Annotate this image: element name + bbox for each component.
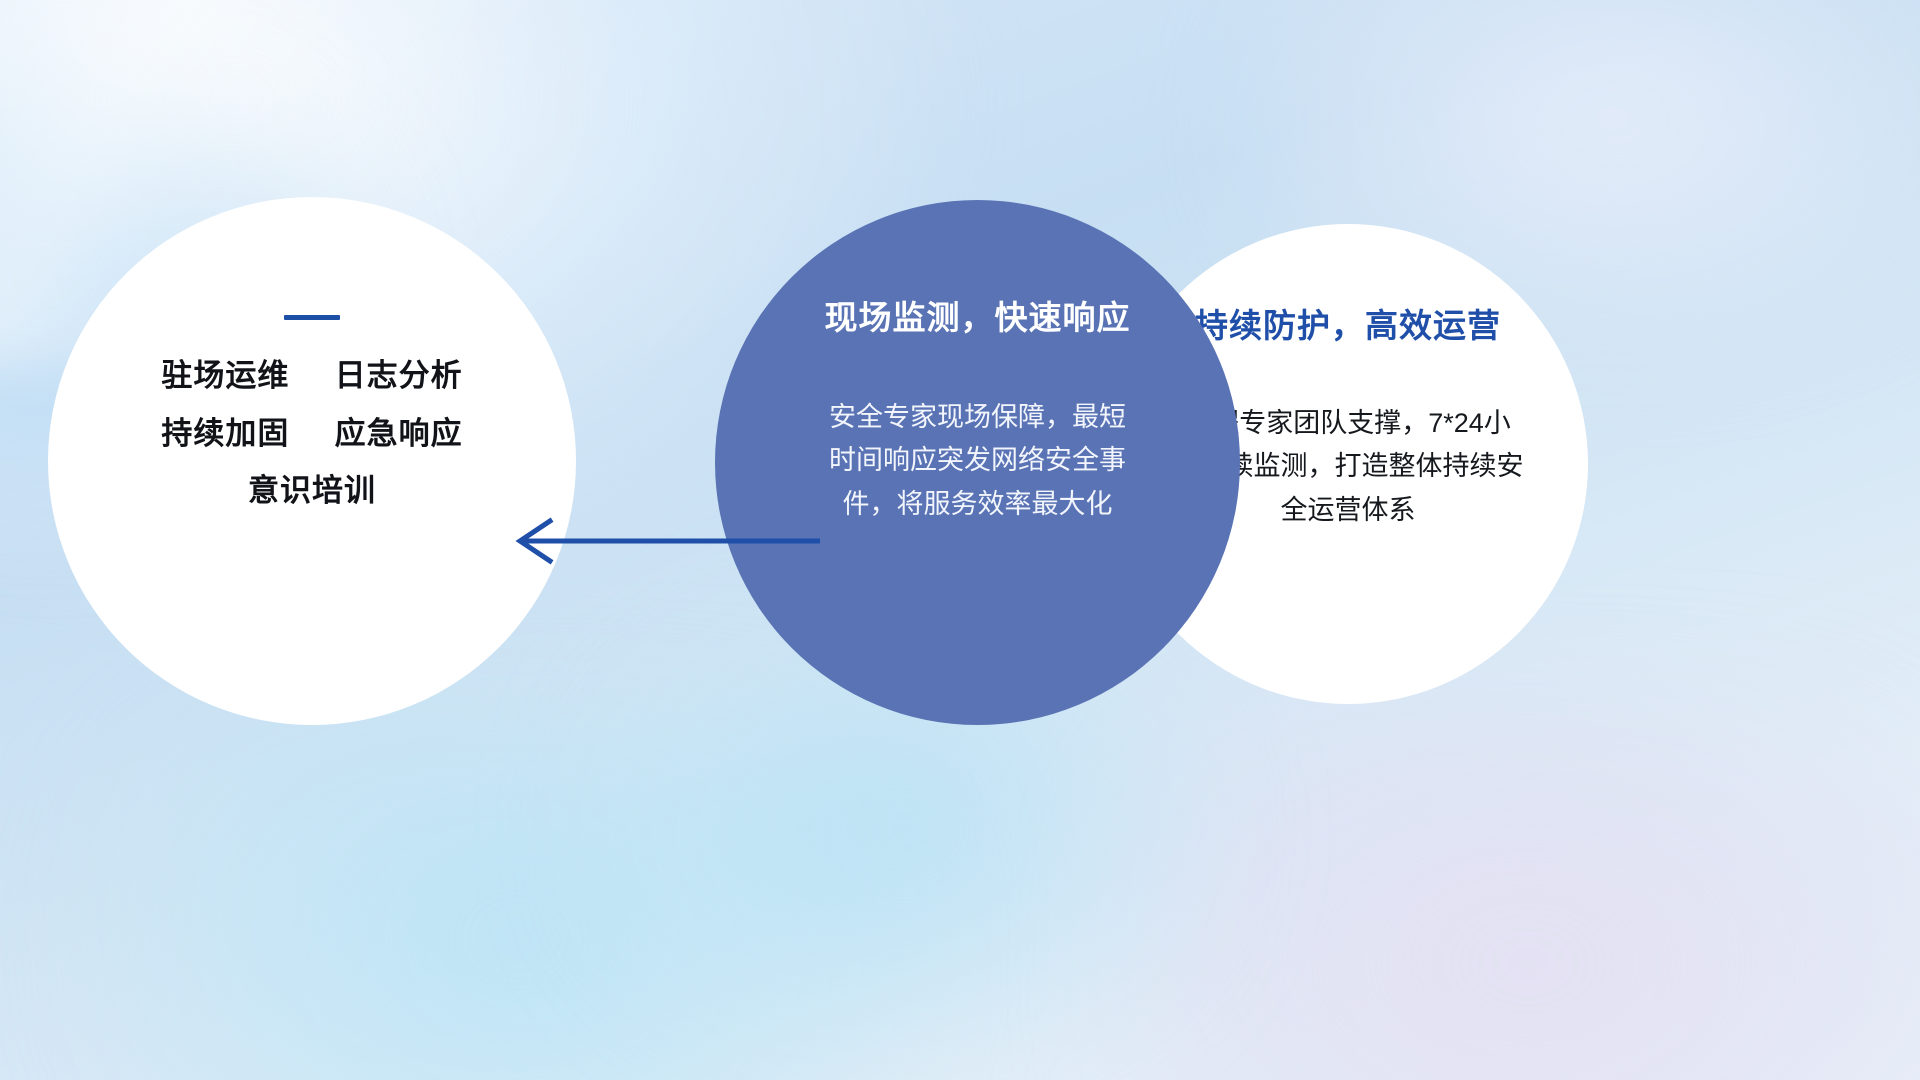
keyword-row-3: 意识培训 [248, 471, 376, 511]
divider-line-icon [284, 315, 340, 320]
left-keyword-circle[interactable]: 驻场运维 日志分析 持续加固 应急响应 意识培训 [48, 197, 576, 725]
keyword-list: 驻场运维 日志分析 持续加固 应急响应 意识培训 [161, 356, 462, 511]
keyword-row-1: 驻场运维 日志分析 [161, 356, 462, 396]
right-circle-title: 持续防护，高效运营 [1195, 306, 1501, 346]
keyword-chixu-jiagu: 持续加固 [161, 416, 289, 451]
keyword-zhuchang-yunwei: 驻场运维 [161, 358, 289, 393]
keyword-rizhi-fenxi: 日志分析 [335, 358, 463, 393]
slide-canvas: 驻场运维 日志分析 持续加固 应急响应 意识培训 持续防护，高效运营 远程专家团… [0, 0, 1920, 1080]
keyword-row-2: 持续加固 应急响应 [161, 414, 462, 454]
middle-circle-body: 安全专家现场保障，最短时间响应突发网络安全事件，将服务效率最大化 [828, 396, 1128, 527]
keyword-yishi-peixun: 意识培训 [248, 473, 376, 508]
keyword-yingji-xiangying: 应急响应 [335, 416, 463, 451]
background-glow-bottom-right [1114, 691, 1920, 1080]
middle-circle-title: 现场监测，快速响应 [825, 298, 1131, 338]
middle-feature-circle[interactable]: 现场监测，快速响应 安全专家现场保障，最短时间响应突发网络安全事件，将服务效率最… [715, 200, 1240, 725]
